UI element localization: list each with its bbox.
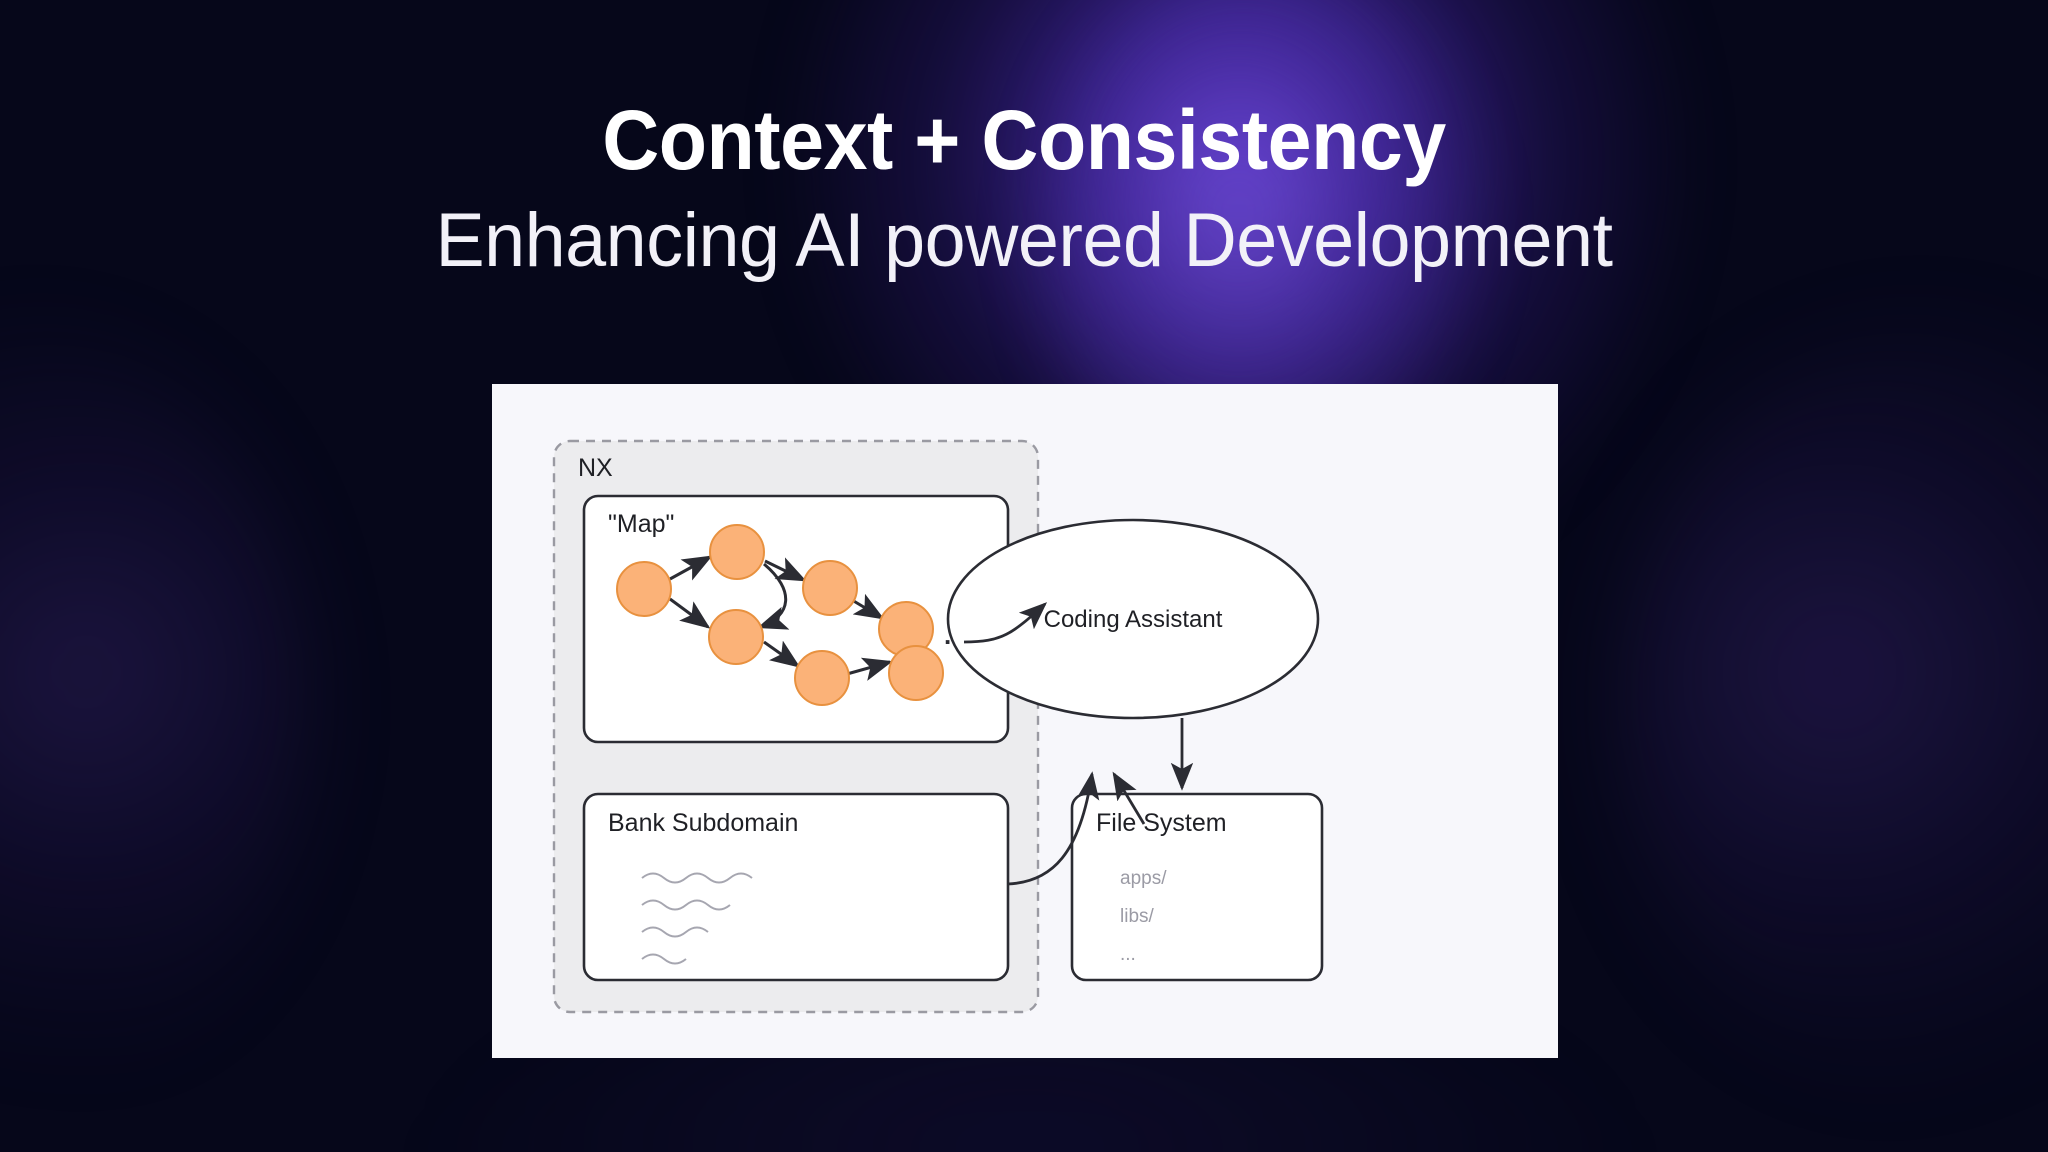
graph-node-1 xyxy=(617,562,671,616)
file-system-item-apps: apps/ xyxy=(1120,868,1167,889)
diagram-panel: NX "Map" xyxy=(492,384,1558,1058)
file-system-box: File System apps/ libs/ ... xyxy=(1072,794,1322,980)
file-system-item-libs: libs/ xyxy=(1120,906,1155,927)
map-box-label: "Map" xyxy=(608,510,674,538)
map-box: "Map" xyxy=(584,496,1008,742)
nx-container-label: NX xyxy=(578,454,613,482)
coding-assistant-label: Coding Assistant xyxy=(1044,606,1223,633)
file-system-item-more: ... xyxy=(1120,944,1136,965)
bank-subdomain-label: Bank Subdomain xyxy=(608,809,798,837)
slide-heading-block: Context + Consistency Enhancing AI power… xyxy=(0,98,2048,283)
purple-glow-left xyxy=(0,330,310,1090)
file-system-label: File System xyxy=(1096,809,1227,837)
slide-subtitle: Enhancing AI powered Development xyxy=(31,198,2018,283)
bank-subdomain-box: Bank Subdomain xyxy=(584,794,1008,980)
architecture-diagram: NX "Map" xyxy=(492,384,1558,1058)
graph-node-2 xyxy=(710,525,764,579)
coding-assistant-node: Coding Assistant xyxy=(948,520,1318,718)
slide-title: Context + Consistency xyxy=(61,98,1986,182)
graph-node-3 xyxy=(803,561,857,615)
graph-node-4 xyxy=(709,610,763,664)
purple-glow-right xyxy=(1620,330,2048,1090)
graph-node-7 xyxy=(889,646,943,700)
graph-node-5 xyxy=(795,651,849,705)
